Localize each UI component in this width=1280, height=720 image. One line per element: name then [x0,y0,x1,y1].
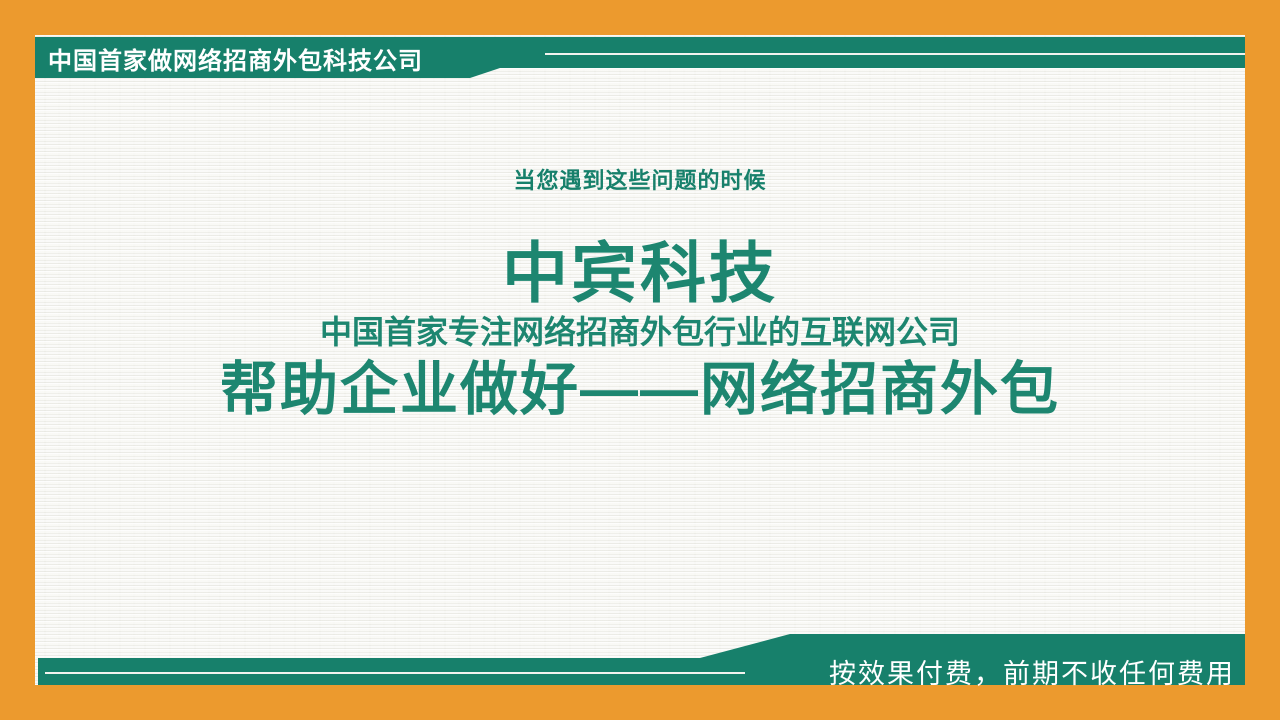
eyebrow-text: 当您遇到这些问题的时候 [35,163,1245,195]
slide-content: 当您遇到这些问题的时候 中宾科技 中国首家专注网络招商外包行业的互联网公司 帮助… [35,35,1245,685]
presentation-slide: 中国首家做网络招商外包科技公司 当您遇到这些问题的时候 中宾科技 中国首家专注网… [0,0,1280,720]
main-headline: 帮助企业做好——网络招商外包 [35,357,1245,424]
company-subtitle: 中国首家专注网络招商外包行业的互联网公司 [35,316,1245,348]
brand-name-heading: 中宾科技 [35,240,1245,306]
